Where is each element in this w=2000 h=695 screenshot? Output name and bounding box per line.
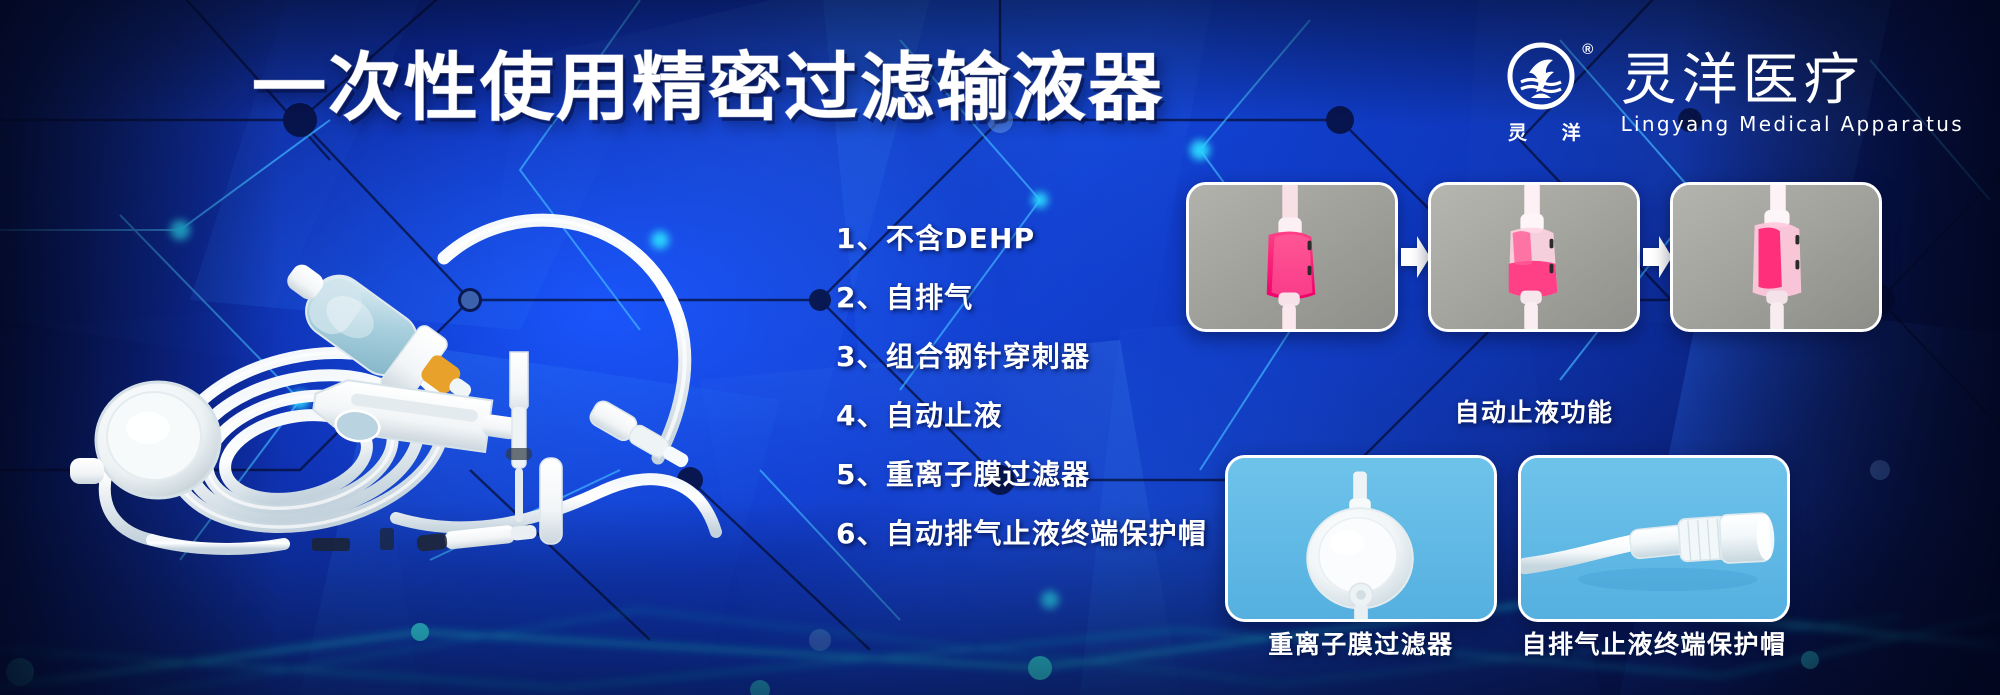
filter-caption: 重离子膜过滤器 [1225,630,1497,660]
cap-photo-panel [1518,455,1790,622]
brand-name-en: Lingyang Medical Apparatus [1621,113,1964,135]
product-hero-image [40,140,730,570]
brand-logo: ® 灵 洋 灵洋医疗 Lingyang Medical Apparatus [1494,40,1964,145]
feature-list: 1、不含DEHP 2、自排气 3、组合钢针穿刺器 4、自动止液 5、重离子膜过滤… [836,222,1207,551]
brand-emblem-group: ® 灵 洋 [1494,40,1595,145]
list-item: 5、重离子膜过滤器 [836,458,1207,492]
arrow-right-icon [1641,234,1673,280]
list-item: 2、自排气 [836,281,1207,315]
brand-name-cn: 灵洋医疗 [1621,51,1964,111]
list-item: 4、自动止液 [836,399,1207,433]
product-banner: 一次性使用精密过滤输液器 ® 灵 洋 灵洋医疗 Lingyang Medical… [0,0,2000,695]
registered-trademark-icon: ® [1582,42,1593,57]
brand-text-group: 灵洋医疗 Lingyang Medical Apparatus [1621,51,1964,135]
list-item: 1、不含DEHP [836,222,1207,256]
list-item: 3、组合钢针穿刺器 [836,340,1207,374]
auto-stop-caption: 自动止液功能 [1186,398,1882,428]
arrow-right-icon [1399,234,1431,280]
page-title: 一次性使用精密过滤输液器 [252,48,1164,128]
auto-stop-frame-3 [1670,182,1882,332]
filter-photo-panel [1225,455,1497,622]
auto-stop-frame-2 [1428,182,1640,332]
auto-stop-frame-1 [1186,182,1398,332]
cap-caption: 自排气止液终端保护帽 [1503,630,1805,660]
list-item: 6、自动排气止液终端保护帽 [836,517,1207,551]
dolphin-wave-circle-logo-icon: ® [1507,40,1581,114]
emblem-subtitle: 灵 洋 [1494,118,1595,145]
